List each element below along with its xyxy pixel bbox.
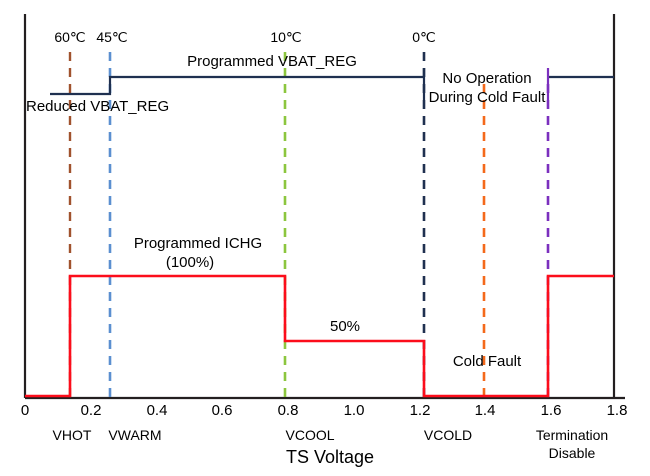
x-tick-2: 0.4 xyxy=(147,402,168,419)
x-tick-8: 1.6 xyxy=(541,402,562,419)
annotation-cold-fault: Cold Fault xyxy=(453,353,521,370)
x-axis-title: TS Voltage xyxy=(286,447,374,468)
x-tick-3: 0.6 xyxy=(212,402,233,419)
x-tick-1: 0.2 xyxy=(81,402,102,419)
vbat-reg-trace-left xyxy=(50,77,424,94)
chart-root: 60℃ 45℃ 10℃ 0℃ Programmed VBAT_REG Reduc… xyxy=(0,0,650,476)
annotation-programmed-ichg: Programmed ICHG xyxy=(134,235,262,252)
x-tick-5: 1.0 xyxy=(344,402,365,419)
x-tick-4: 0.8 xyxy=(278,402,299,419)
threshold-label-disable: Disable xyxy=(549,445,596,461)
temp-label-vcold: 0℃ xyxy=(412,29,436,45)
threshold-label-vwarm: VWARM xyxy=(108,427,161,443)
temp-label-vwarm: 45℃ xyxy=(96,29,127,45)
threshold-label-vcold: VCOLD xyxy=(424,427,472,443)
annotation-ichg-percent: (100%) xyxy=(166,254,214,271)
x-tick-0: 0 xyxy=(21,402,29,419)
x-tick-6: 1.2 xyxy=(410,402,431,419)
annotation-during-cold-fault: During Cold Fault xyxy=(429,89,546,106)
annotation-programmed-vbat-reg: Programmed VBAT_REG xyxy=(187,53,357,70)
threshold-label-vhot: VHOT xyxy=(53,427,92,443)
temp-label-vhot: 60℃ xyxy=(54,29,85,45)
temp-label-vcool: 10℃ xyxy=(270,29,301,45)
threshold-label-vcool: VCOOL xyxy=(285,427,334,443)
annotation-reduced-vbat-reg: Reduced VBAT_REG xyxy=(26,98,169,115)
threshold-label-termination: Termination xyxy=(536,427,608,443)
annotation-fifty-percent: 50% xyxy=(330,318,360,335)
x-tick-7: 1.4 xyxy=(475,402,496,419)
x-tick-9: 1.8 xyxy=(607,402,628,419)
annotation-no-operation: No Operation xyxy=(442,70,531,87)
ichg-trace xyxy=(25,276,614,396)
